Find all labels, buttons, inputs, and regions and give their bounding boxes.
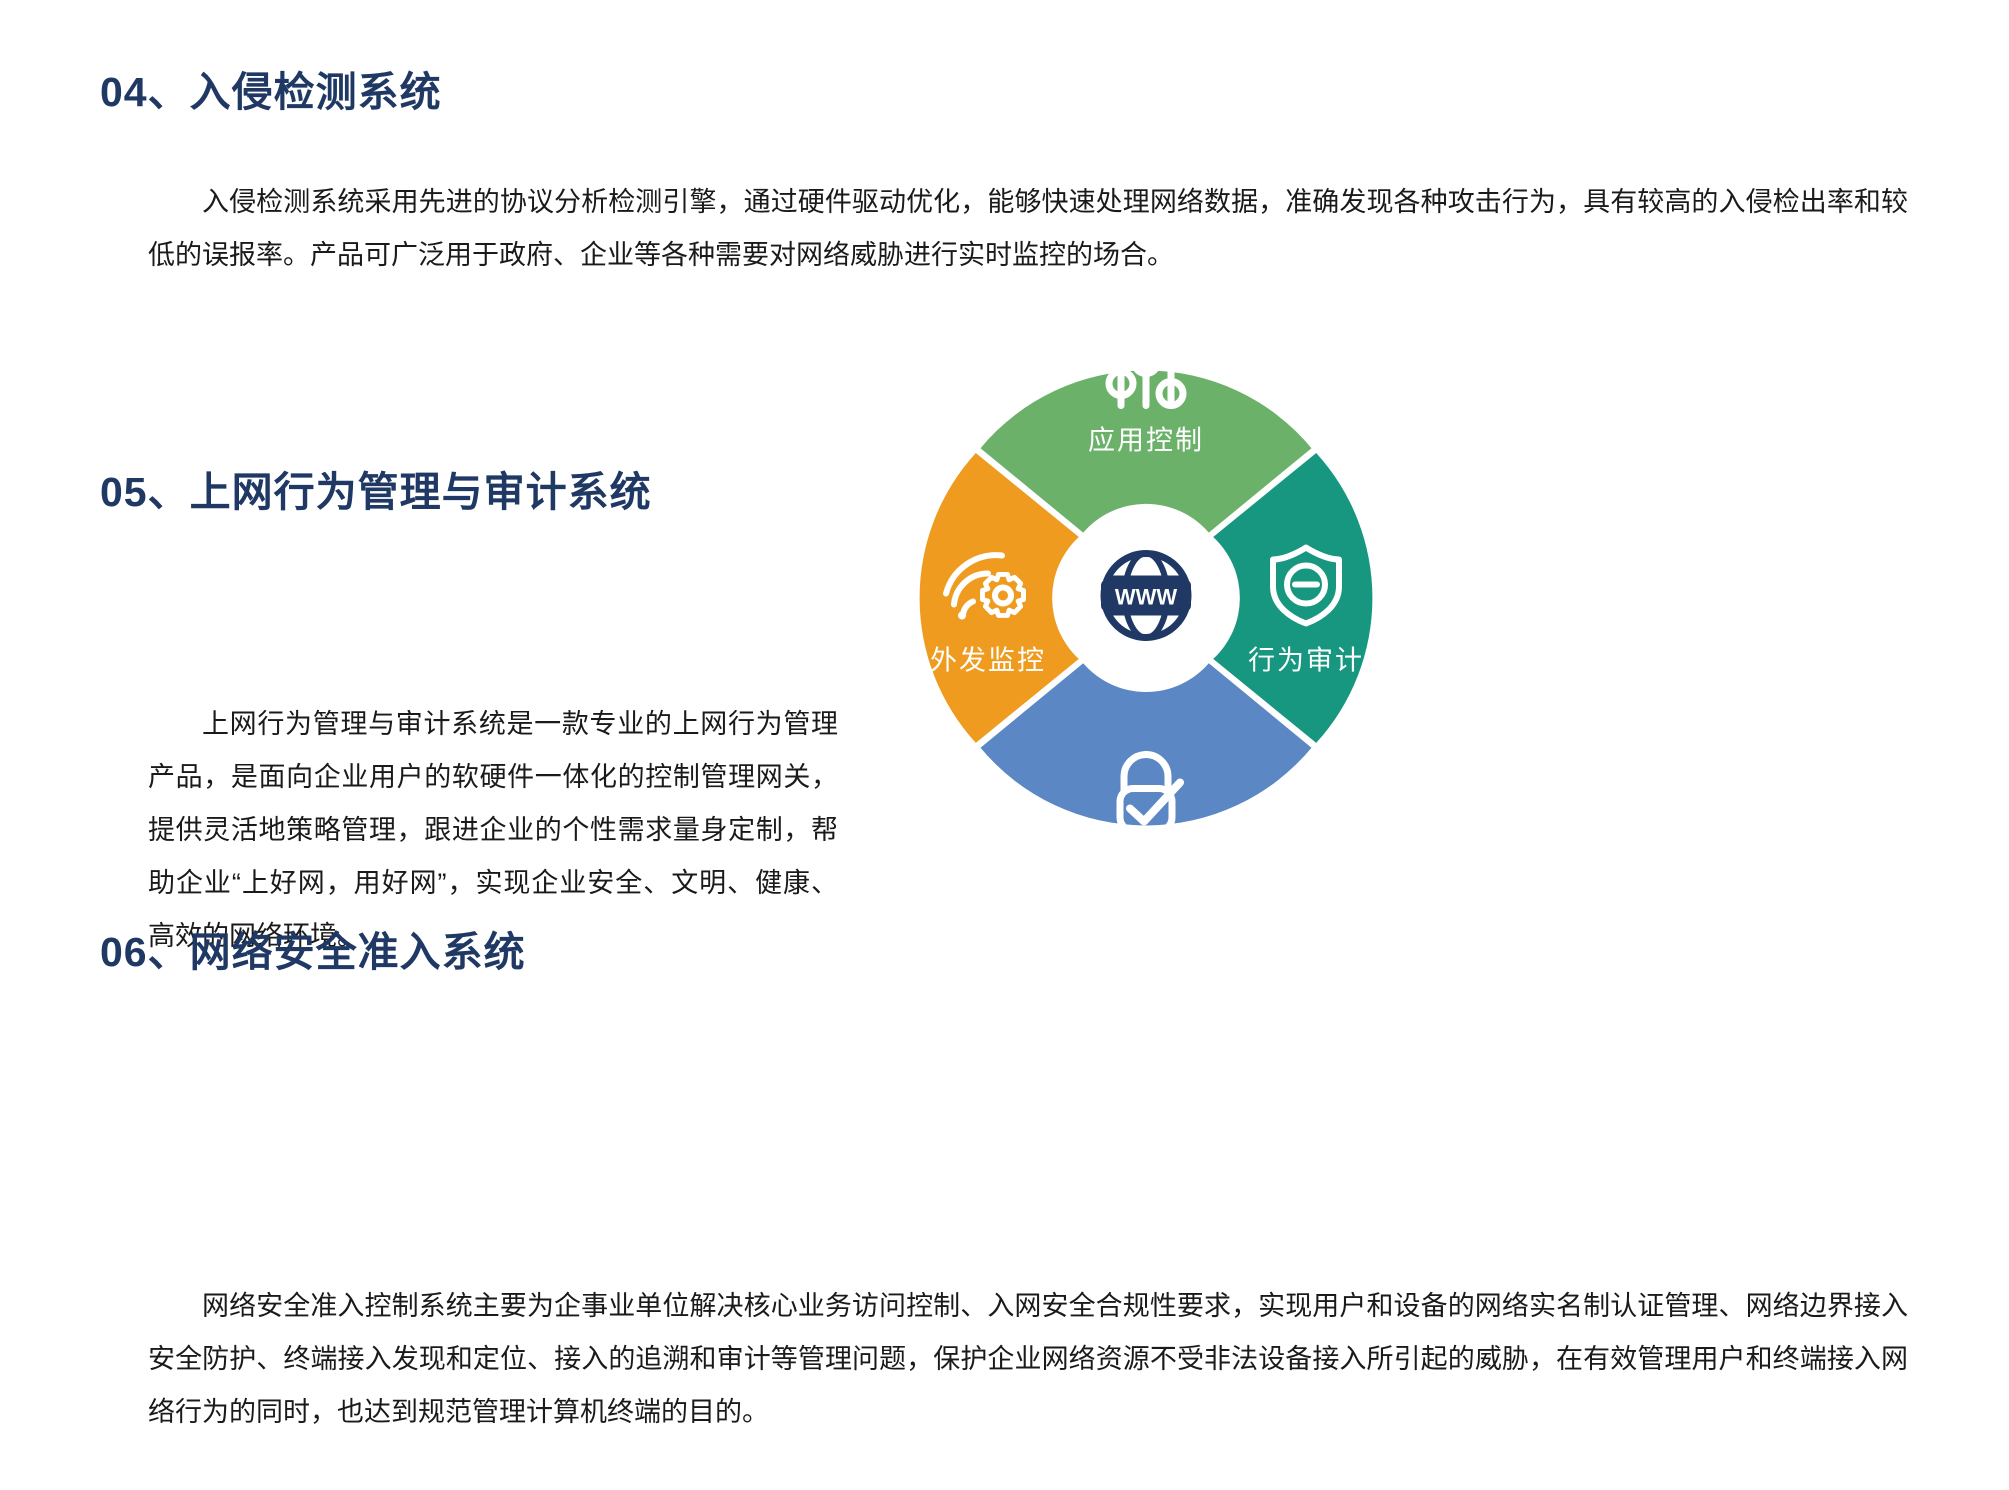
section-body-06: 网络安全准入控制系统主要为企事业单位解决核心业务访问控制、入网安全合规性要求，实…: [148, 1280, 1908, 1439]
section-heading-05: 05、上网行为管理与审计系统: [100, 470, 652, 515]
section-heading-04: 04、入侵检测系统: [100, 70, 442, 115]
donut-diagram: 应用控制 行为审计 带宽管理: [836, 288, 1456, 908]
www-globe-icon: WWW: [1090, 543, 1202, 654]
section-heading-06: 06、网络安全准入系统: [100, 930, 526, 975]
section-body-05: 上网行为管理与审计系统是一款专业的上网行为管理产品，是面向企业用户的软硬件一体化…: [148, 698, 838, 963]
section-body-04: 入侵检测系统采用先进的协议分析检测引擎，通过硬件驱动优化，能够快速处理网络数据，…: [148, 176, 1908, 282]
center-www-text: WWW: [1115, 585, 1178, 610]
page-root: 04、入侵检测系统 入侵检测系统采用先进的协议分析检测引擎，通过硬件驱动优化，能…: [0, 0, 2009, 1490]
